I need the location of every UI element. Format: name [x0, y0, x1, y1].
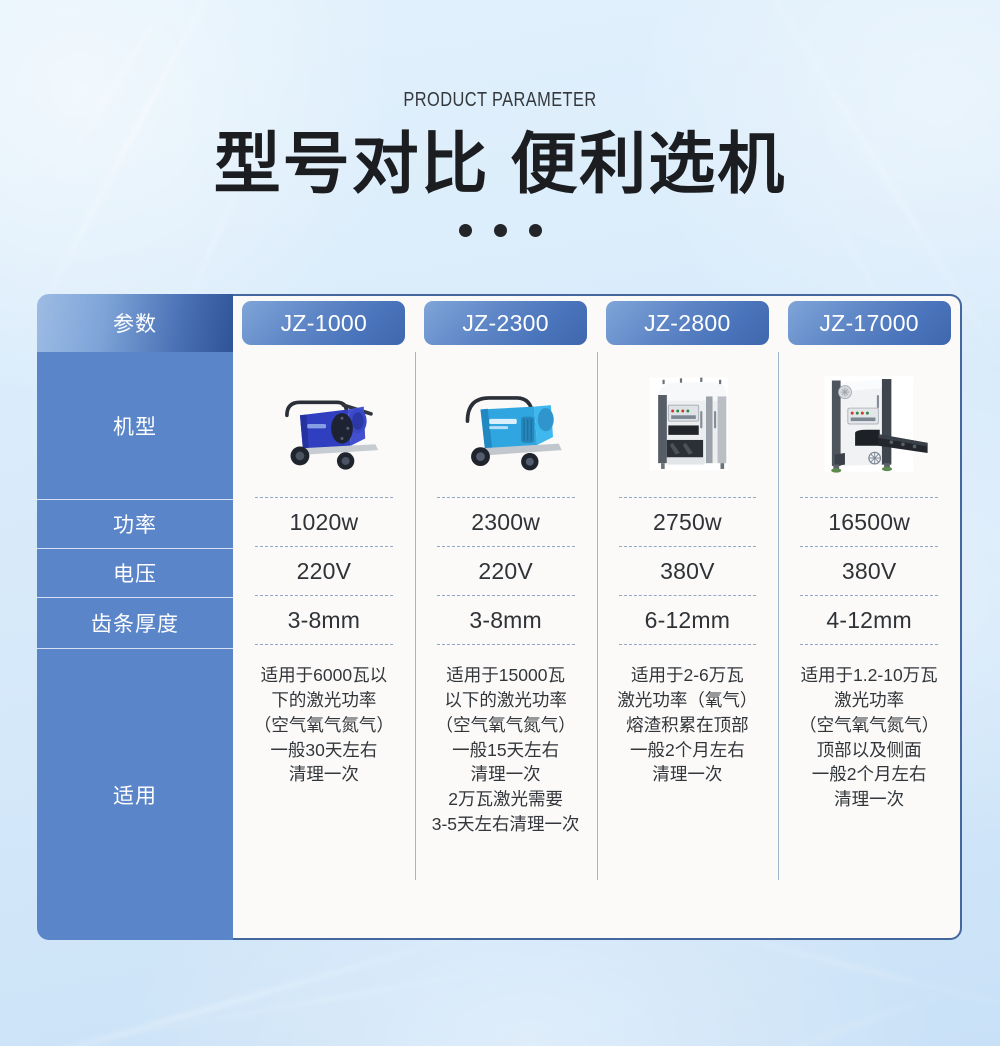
- wisp-streak: [44, 951, 596, 1046]
- power-value-jz-2300: 2300w: [437, 498, 575, 547]
- product-photo-cell: [437, 350, 575, 498]
- power-value-jz-17000: 16500w: [800, 498, 938, 547]
- usage-cell-jz-2800: 适用于2-6万瓦 激光功率（氧气） 熔渣积累在顶部 一般2个月左右 清理一次: [597, 645, 779, 938]
- usage-cell-jz-1000: 适用于6000瓦以 下的激光功率 （空气氧气氮气） 一般30天左右 清理一次: [233, 645, 415, 938]
- product-photo-cell: [619, 350, 757, 498]
- usage-text-jz-2800: 适用于2-6万瓦 激光功率（氧气） 熔渣积累在顶部 一般2个月左右 清理一次: [617, 653, 757, 787]
- row-label-model: 机型: [37, 352, 233, 500]
- voltage-value-jz-17000: 380V: [800, 547, 938, 596]
- voltage-value-jz-2300: 220V: [437, 547, 575, 596]
- model-column-jz-2800: JZ-2800: [597, 296, 779, 938]
- jz-2300-product-photo: [437, 353, 575, 495]
- usage-text-jz-2300: 适用于15000瓦 以下的激光功率 （空气氧气氮气） 一般15天左右 清理一次 …: [432, 653, 580, 837]
- eyebrow-text: PRODUCT PARAMETER: [90, 89, 910, 112]
- model-pill-cell: JZ-17000: [778, 296, 960, 350]
- jz-1000-product-photo: [255, 353, 393, 495]
- product-photo-cell: [800, 350, 938, 498]
- product-photo-cell: [255, 350, 393, 498]
- wisp-streak: [699, 979, 982, 1046]
- power-value-jz-2800: 2750w: [619, 498, 757, 547]
- model-column-jz-2300: JZ-2300: [415, 296, 597, 938]
- model-pill-cell: JZ-2300: [415, 296, 597, 350]
- comparison-table: 参数 机型 功率 电压 齿条厚度 适用 JZ-1000: [37, 294, 962, 940]
- row-label-power: 功率: [37, 500, 233, 549]
- thickness-value-jz-17000: 4-12mm: [800, 596, 938, 645]
- usage-text-jz-17000: 适用于1.2-10万瓦 激光功率 （空气氧气氮气） 顶部以及侧面 一般2个月左右…: [799, 653, 939, 812]
- parameter-label-column: 参数 机型 功率 电压 齿条厚度 适用: [37, 294, 233, 940]
- usage-cell-jz-17000: 适用于1.2-10万瓦 激光功率 （空气氧气氮气） 顶部以及侧面 一般2个月左右…: [778, 645, 960, 938]
- page-title: 型号对比 便利选机: [0, 131, 1000, 198]
- usage-text-jz-1000: 适用于6000瓦以 下的激光功率 （空气氧气氮气） 一般30天左右 清理一次: [254, 653, 394, 787]
- dot-divider: [0, 224, 1000, 237]
- voltage-value-jz-2800: 380V: [619, 547, 757, 596]
- page-header: PRODUCT PARAMETER 型号对比 便利选机: [0, 0, 1000, 237]
- jz-2800-product-photo: [619, 353, 757, 495]
- usage-cell-jz-2300: 适用于15000瓦 以下的激光功率 （空气氧气氮气） 一般15天左右 清理一次 …: [415, 645, 597, 938]
- row-label-thickness: 齿条厚度: [37, 598, 233, 649]
- dot: [459, 224, 472, 237]
- thickness-value-jz-1000: 3-8mm: [255, 596, 393, 645]
- model-pill-cell: JZ-1000: [233, 296, 415, 350]
- thickness-value-jz-2800: 6-12mm: [619, 596, 757, 645]
- power-value-jz-1000: 1020w: [255, 498, 393, 547]
- dot: [529, 224, 542, 237]
- model-column-jz-17000: JZ-17000: [778, 296, 960, 938]
- model-pill-jz-1000[interactable]: JZ-1000: [242, 301, 405, 345]
- model-column-jz-1000: JZ-1000: [233, 296, 415, 938]
- voltage-value-jz-1000: 220V: [255, 547, 393, 596]
- thickness-value-jz-2300: 3-8mm: [437, 596, 575, 645]
- model-pill-jz-2300[interactable]: JZ-2300: [424, 301, 587, 345]
- row-label-parameter: 参数: [37, 294, 233, 352]
- models-card: JZ-1000: [233, 294, 962, 940]
- model-pill-jz-2800[interactable]: JZ-2800: [606, 301, 769, 345]
- jz-17000-product-photo: [800, 353, 938, 495]
- row-label-voltage: 电压: [37, 549, 233, 598]
- row-label-usage: 适用: [37, 649, 233, 940]
- model-pill-cell: JZ-2800: [597, 296, 779, 350]
- model-pill-jz-17000[interactable]: JZ-17000: [788, 301, 951, 345]
- dot: [494, 224, 507, 237]
